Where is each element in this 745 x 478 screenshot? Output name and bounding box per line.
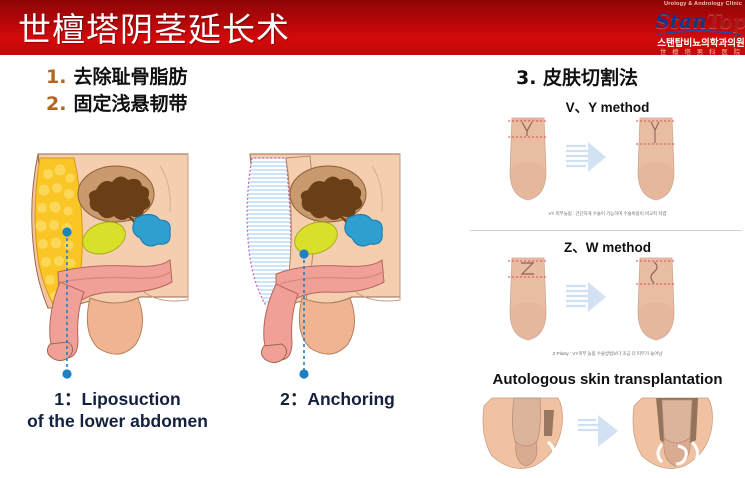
- logo-tagline: Urology & Andrology Clinic: [651, 1, 745, 7]
- section-heading-autologous: Autologous skin transplantation: [470, 371, 745, 388]
- list-item-label: 固定浅悬韧带: [73, 93, 187, 115]
- process-arrow-autologous: [578, 412, 620, 452]
- logo-chinese-name: 世 檀 塔 男 科 医 院: [649, 46, 745, 55]
- penis-illustration-zw-after: [624, 252, 686, 347]
- figure-autologous-after: [628, 392, 724, 478]
- section-divider: [470, 230, 742, 231]
- left-numbered-list: 1.去除耻骨脂肪 2.固定浅悬韧带: [46, 64, 187, 118]
- list-item: 1.去除耻骨脂肪: [46, 64, 187, 91]
- figure-autologous-before: [478, 392, 574, 478]
- process-arrow-zw: [566, 280, 608, 316]
- caption-vy: VY 피부늘림 : 간단하게 수술이 가능하며 수술비용이 비교적 저렴: [470, 211, 745, 217]
- caption-zw: Z-Plasty : VY피부 늘림 수술방법보다 조금 더 피부가 늘어남: [470, 351, 745, 357]
- figure1-caption-line1: 1：Liposuction: [10, 388, 225, 410]
- figure-zw-after: [624, 252, 686, 352]
- section-heading-skin-incision: 3. 皮肤切割法: [516, 63, 638, 90]
- process-arrow-vy: [566, 140, 608, 176]
- figure1-caption: 1：Liposuction of the lower abdomen: [10, 388, 225, 432]
- list-item-number: 1.: [46, 66, 66, 88]
- graft-illustration-before: [478, 392, 574, 473]
- page-title: 世檀塔阴茎延长术: [18, 3, 290, 51]
- graft-illustration-after: [628, 392, 724, 473]
- list-item-number: 2.: [46, 93, 66, 115]
- figure2-caption: 2：Anchoring: [230, 388, 445, 410]
- figure1-caption-line2: of the lower abdomen: [10, 410, 225, 432]
- figure-anchoring: [232, 132, 437, 380]
- penis-illustration-zw-before: [496, 252, 558, 347]
- title-bar: 世檀塔阴茎延长术 Urology & Andrology Clinic Stan…: [0, 0, 745, 55]
- figure-vy-before: [496, 112, 558, 212]
- figure-liposuction: [20, 132, 225, 380]
- list-item-label: 去除耻骨脂肪: [73, 66, 187, 88]
- penis-illustration-vy-before: [496, 112, 558, 207]
- figure-vy-after: [624, 112, 686, 212]
- penis-illustration-vy-after: [624, 112, 686, 207]
- anatomy-diagram-after: [232, 132, 437, 380]
- clinic-logo: Urology & Andrology Clinic StanTop 스탠탑비뇨…: [649, 0, 745, 55]
- figure-zw-before: [496, 252, 558, 352]
- list-item: 2.固定浅悬韧带: [46, 91, 187, 118]
- anatomy-diagram-before: [20, 132, 225, 380]
